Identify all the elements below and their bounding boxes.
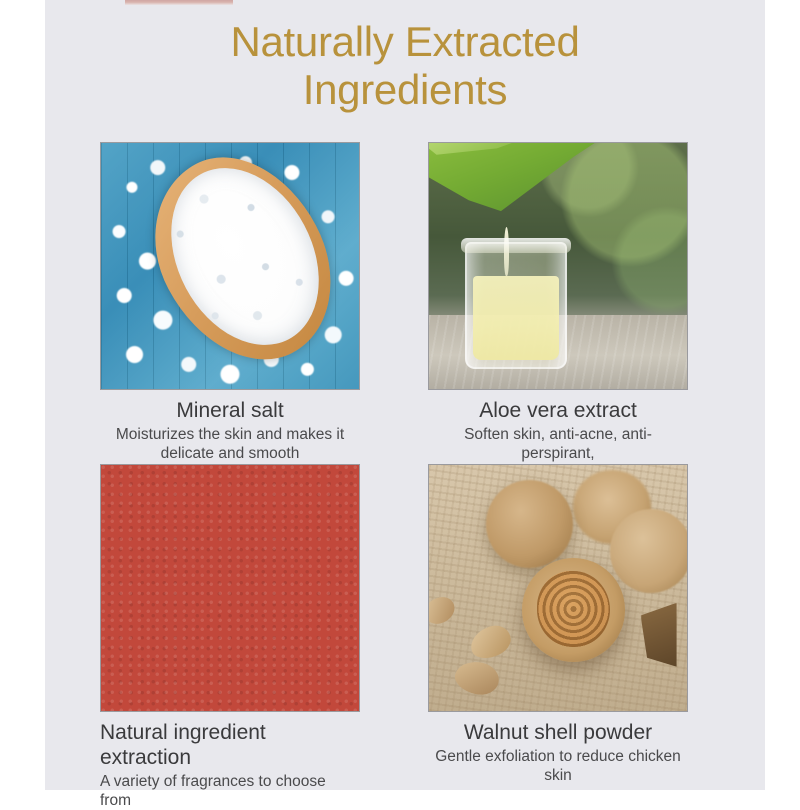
walnut-kernel	[537, 571, 609, 647]
card-description: Moisturizes the skin and makes it delica…	[100, 425, 360, 463]
product-infographic-page: Naturally Extracted Ingredients Mineral …	[0, 0, 800, 800]
walnut-background-left	[486, 480, 574, 569]
card-title: Walnut shell powder	[428, 720, 688, 745]
walnut-background-far-right	[610, 509, 688, 593]
natural-ingredient-caption: Natural ingredient extraction A variety …	[100, 720, 360, 810]
jar-rim	[461, 238, 571, 253]
leaf-highlight	[428, 142, 533, 168]
previous-image-sliver	[125, 0, 233, 5]
card-description: A variety of fragrances to choose from	[100, 772, 360, 810]
ingredient-card-walnut-shell-powder: Walnut shell powder Gentle exfoliation t…	[428, 464, 688, 785]
mineral-salt-caption: Mineral salt Moisturizes the skin and ma…	[100, 398, 360, 463]
ingredient-card-mineral-salt: Mineral salt Moisturizes the skin and ma…	[100, 142, 360, 463]
card-title: Mineral salt	[100, 398, 360, 423]
aloe-vera-photo	[428, 142, 688, 390]
mineral-salt-photo	[100, 142, 360, 390]
ingredient-card-aloe-vera-extract: Aloe vera extract Soften skin, anti-acne…	[428, 142, 688, 482]
page-title: Naturally Extracted Ingredients	[45, 18, 765, 114]
card-description: Gentle exfoliation to reduce chicken ski…	[428, 747, 688, 785]
card-title: Aloe vera extract	[428, 398, 688, 423]
walnut-photo	[428, 464, 688, 712]
glass-jar	[465, 242, 567, 369]
jar-gel-fill	[473, 276, 559, 360]
ingredient-card-natural-ingredient-extraction: Natural ingredient extraction A variety …	[100, 464, 360, 810]
mixed-fruits-photo	[100, 464, 360, 712]
card-title: Natural ingredient extraction	[100, 720, 360, 770]
walnut-caption: Walnut shell powder Gentle exfoliation t…	[428, 720, 688, 785]
fruit-surface-texture	[101, 465, 359, 711]
